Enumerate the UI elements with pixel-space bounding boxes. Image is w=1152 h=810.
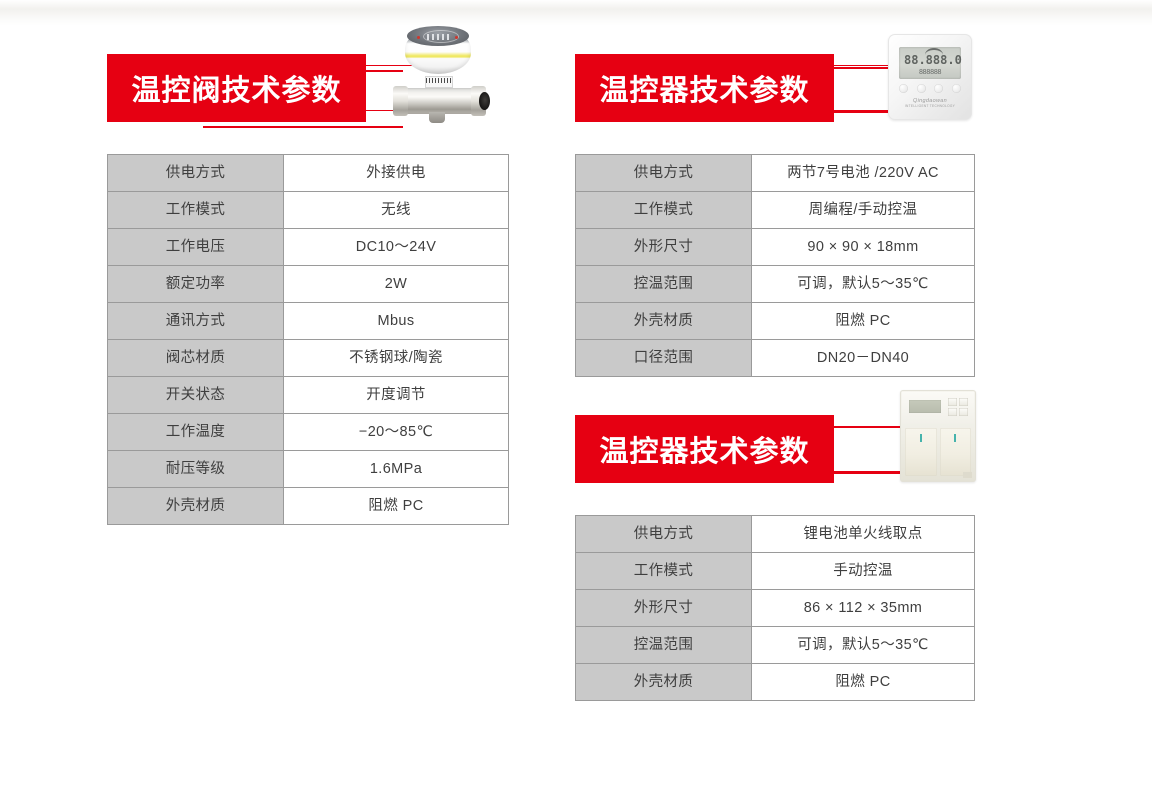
spec-key: 工作模式 — [575, 191, 751, 229]
spec-value: Mbus — [283, 302, 509, 340]
spec-key: 供电方式 — [575, 154, 751, 192]
spec-value: 外接供电 — [283, 154, 509, 192]
spec-table-thermostat-switch: 供电方式 锂电池单火线取点 工作模式 手动控温 外形尺寸 86 × 112 × … — [575, 515, 975, 701]
leader-line-bottom — [203, 126, 403, 128]
spec-value: 两节7号电池 /220V AC — [751, 154, 975, 192]
spec-value: DC10～24V — [283, 228, 509, 266]
lcd-secondary-readout: 888888 — [905, 68, 955, 76]
switch-key-1 — [948, 398, 957, 406]
table-row: 工作模式 手动控温 — [575, 552, 975, 590]
valve-stem — [429, 112, 445, 123]
thermostat-button-row — [899, 84, 961, 93]
spec-value: 86 × 112 × 35mm — [751, 589, 975, 627]
spec-key: 供电方式 — [107, 154, 283, 192]
thermostat-button-up — [934, 84, 943, 93]
spec-key: 开关状态 — [107, 376, 283, 414]
table-row: 控温范围 可调，默认5～35℃ — [575, 626, 975, 664]
leader-line-top — [688, 67, 898, 69]
thermostat-lcd-screen: 88.8 88.0 888888 — [899, 47, 961, 79]
wall-switch-thermostat-photo — [900, 390, 980, 490]
spec-key: 外壳材质 — [575, 663, 751, 701]
lcd-value-right: 88.0 — [933, 53, 962, 67]
table-row: 外形尺寸 86 × 112 × 35mm — [575, 589, 975, 627]
spec-key: 额定功率 — [107, 265, 283, 303]
table-row: 外形尺寸 90 × 90 × 18mm — [575, 228, 975, 266]
valve-port-bore — [479, 92, 490, 110]
spec-key: 供电方式 — [575, 515, 751, 553]
valve-barcode-label — [425, 76, 453, 88]
spec-key: 外形尺寸 — [575, 589, 751, 627]
switch-bottom-tab — [963, 472, 972, 478]
spec-key: 外形尺寸 — [575, 228, 751, 266]
switch-rocker-right — [940, 428, 972, 476]
spec-value: 不锈钢球/陶瓷 — [283, 339, 509, 377]
spec-key: 控温范围 — [575, 265, 751, 303]
leader-line-top — [203, 70, 403, 72]
table-row: 供电方式 外接供电 — [107, 154, 509, 192]
thermostat-button-down — [952, 84, 961, 93]
table-row: 耐压等级 1.6MPa — [107, 450, 509, 488]
leader-line-top — [690, 426, 906, 428]
spec-value: 90 × 90 × 18mm — [751, 228, 975, 266]
spec-value: 可调，默认5～35℃ — [751, 626, 975, 664]
table-row: 阀芯材质 不锈钢球/陶瓷 — [107, 339, 509, 377]
lcd-primary-readout: 88.8 88.0 — [904, 53, 956, 67]
switch-rocker-left — [905, 428, 937, 476]
table-row: 工作模式 周编程/手动控温 — [575, 191, 975, 229]
spec-value: 手动控温 — [751, 552, 975, 590]
spec-key: 阀芯材质 — [107, 339, 283, 377]
switch-rocker-group — [905, 428, 971, 476]
leader-line-bottom — [690, 472, 906, 474]
table-row: 开关状态 开度调节 — [107, 376, 509, 414]
valve-nut-left — [393, 86, 408, 116]
spec-key: 工作电压 — [107, 228, 283, 266]
spec-value: −20～85℃ — [283, 413, 509, 451]
valve-led-right — [455, 36, 458, 39]
spec-key: 控温范围 — [575, 626, 751, 664]
spec-table-thermostat-lcd: 供电方式 两节7号电池 /220V AC 工作模式 周编程/手动控温 外形尺寸 … — [575, 154, 975, 377]
section-title: 温控器技术参数 — [599, 67, 809, 109]
table-row: 外壳材质 阻燃 PC — [575, 302, 975, 340]
valve-indicator-marks — [427, 34, 449, 40]
switch-lcd-screen — [909, 400, 941, 413]
spec-key: 工作温度 — [107, 413, 283, 451]
spec-key: 工作模式 — [575, 552, 751, 590]
table-row: 口径范围 DN20－DN40 — [575, 339, 975, 377]
section-title: 温控器技术参数 — [599, 428, 809, 470]
table-row: 工作电压 DC10～24V — [107, 228, 509, 266]
section-title: 温控阀技术参数 — [131, 67, 341, 109]
banner-red-block: 温控阀技术参数 — [107, 54, 366, 122]
switch-key-4 — [959, 408, 968, 416]
brand-subtitle: INTELLIGENT TECHNOLOGY — [888, 104, 972, 108]
banner-thermostatic-valve: 温控阀技术参数 — [107, 54, 437, 122]
motorized-ball-valve-photo — [393, 26, 493, 146]
table-row: 控温范围 可调，默认5～35℃ — [575, 265, 975, 303]
table-row: 工作温度 −20～85℃ — [107, 413, 509, 451]
table-row: 供电方式 锂电池单火线取点 — [575, 515, 975, 553]
spec-key: 工作模式 — [107, 191, 283, 229]
spec-value: 阻燃 PC — [751, 663, 975, 701]
switch-keypad — [948, 398, 968, 416]
spec-key: 外壳材质 — [575, 302, 751, 340]
spec-key: 耐压等级 — [107, 450, 283, 488]
table-row: 外壳材质 阻燃 PC — [107, 487, 509, 525]
table-row: 供电方式 两节7号电池 /220V AC — [575, 154, 975, 192]
table-row: 额定功率 2W — [107, 265, 509, 303]
thermostat-housing: 88.8 88.0 888888 Qingdaowan INTELLIGENT … — [888, 34, 972, 120]
spec-value: DN20－DN40 — [751, 339, 975, 377]
thermostat-button-power — [899, 84, 908, 93]
lcd-value-left: 88.8 — [904, 53, 933, 67]
thermostat-button-mode — [917, 84, 926, 93]
lcd-wall-thermostat-photo: 88.8 88.0 888888 Qingdaowan INTELLIGENT … — [888, 34, 978, 134]
leader-line-bottom — [688, 111, 898, 113]
table-row: 通讯方式 Mbus — [107, 302, 509, 340]
spec-value: 锂电池单火线取点 — [751, 515, 975, 553]
spec-key: 通讯方式 — [107, 302, 283, 340]
spec-table-thermostatic-valve: 供电方式 外接供电 工作模式 无线 工作电压 DC10～24V 额定功率 2W … — [107, 154, 509, 525]
top-gradient-wash — [0, 0, 1152, 26]
spec-value: 阻燃 PC — [751, 302, 975, 340]
spec-value: 开度调节 — [283, 376, 509, 414]
table-row: 工作模式 无线 — [107, 191, 509, 229]
spec-value: 无线 — [283, 191, 509, 229]
switch-key-2 — [959, 398, 968, 406]
thermostat-brand-mark: Qingdaowan INTELLIGENT TECHNOLOGY — [888, 98, 972, 108]
spec-value: 1.6MPa — [283, 450, 509, 488]
switch-key-3 — [948, 408, 957, 416]
spec-value: 周编程/手动控温 — [751, 191, 975, 229]
valve-led-left — [417, 36, 420, 39]
spec-value: 可调，默认5～35℃ — [751, 265, 975, 303]
spec-value: 阻燃 PC — [283, 487, 509, 525]
switch-panel-housing — [900, 390, 976, 482]
table-row: 外壳材质 阻燃 PC — [575, 663, 975, 701]
spec-value: 2W — [283, 265, 509, 303]
spec-key: 外壳材质 — [107, 487, 283, 525]
spec-key: 口径范围 — [575, 339, 751, 377]
